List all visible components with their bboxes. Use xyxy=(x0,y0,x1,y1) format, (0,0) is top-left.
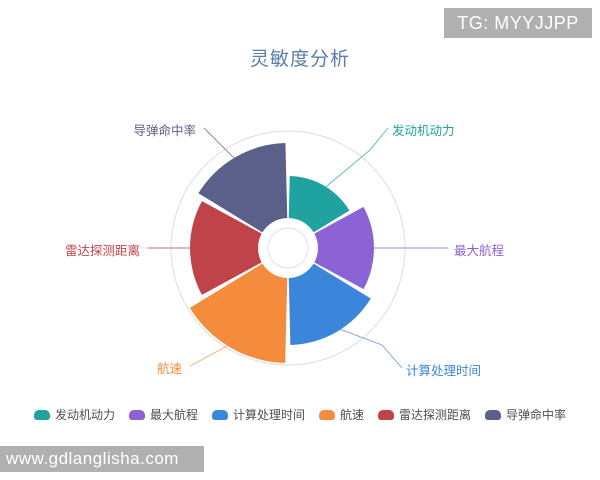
legend-item[interactable]: 发动机动力 xyxy=(34,406,115,423)
leader-line xyxy=(321,128,388,191)
data-label: 最大航程 xyxy=(454,240,504,259)
legend-label: 最大航程 xyxy=(150,406,198,423)
data-label: 发动机动力 xyxy=(392,120,455,139)
legend-item[interactable]: 最大航程 xyxy=(129,406,198,423)
leader-line xyxy=(204,128,239,162)
legend-label: 计算处理时间 xyxy=(233,406,305,423)
chart-canvas: TG: MYYJJPP 灵敏度分析 发动机动力最大航程计算处理时间航速雷达探测距… xyxy=(0,0,600,480)
legend-label: 发动机动力 xyxy=(55,406,115,423)
legend-swatch-icon xyxy=(129,410,145,420)
legend-label: 雷达探测距离 xyxy=(399,406,471,423)
legend-item[interactable]: 航速 xyxy=(319,406,364,423)
legend-item[interactable]: 雷达探测距离 xyxy=(378,406,471,423)
legend-item[interactable]: 计算处理时间 xyxy=(212,406,305,423)
legend-swatch-icon xyxy=(34,410,50,420)
watermark-bottom-left: www.gdlanglisha.com xyxy=(0,446,204,472)
leader-line xyxy=(190,342,234,366)
data-label: 计算处理时间 xyxy=(406,360,481,379)
legend-swatch-icon xyxy=(378,410,394,420)
data-label: 雷达探测距离 xyxy=(0,240,140,259)
legend-label: 航速 xyxy=(340,406,364,423)
data-label: 导弹命中率 xyxy=(0,120,196,139)
legend-swatch-icon xyxy=(319,410,335,420)
chart-legend: 发动机动力最大航程计算处理时间航速雷达探测距离导弹命中率 xyxy=(0,406,600,423)
legend-label: 导弹命中率 xyxy=(506,406,566,423)
legend-swatch-icon xyxy=(485,410,501,420)
legend-swatch-icon xyxy=(212,410,228,420)
data-label: 航速 xyxy=(0,358,182,377)
donut-hole xyxy=(260,220,316,276)
legend-item[interactable]: 导弹命中率 xyxy=(485,406,566,423)
